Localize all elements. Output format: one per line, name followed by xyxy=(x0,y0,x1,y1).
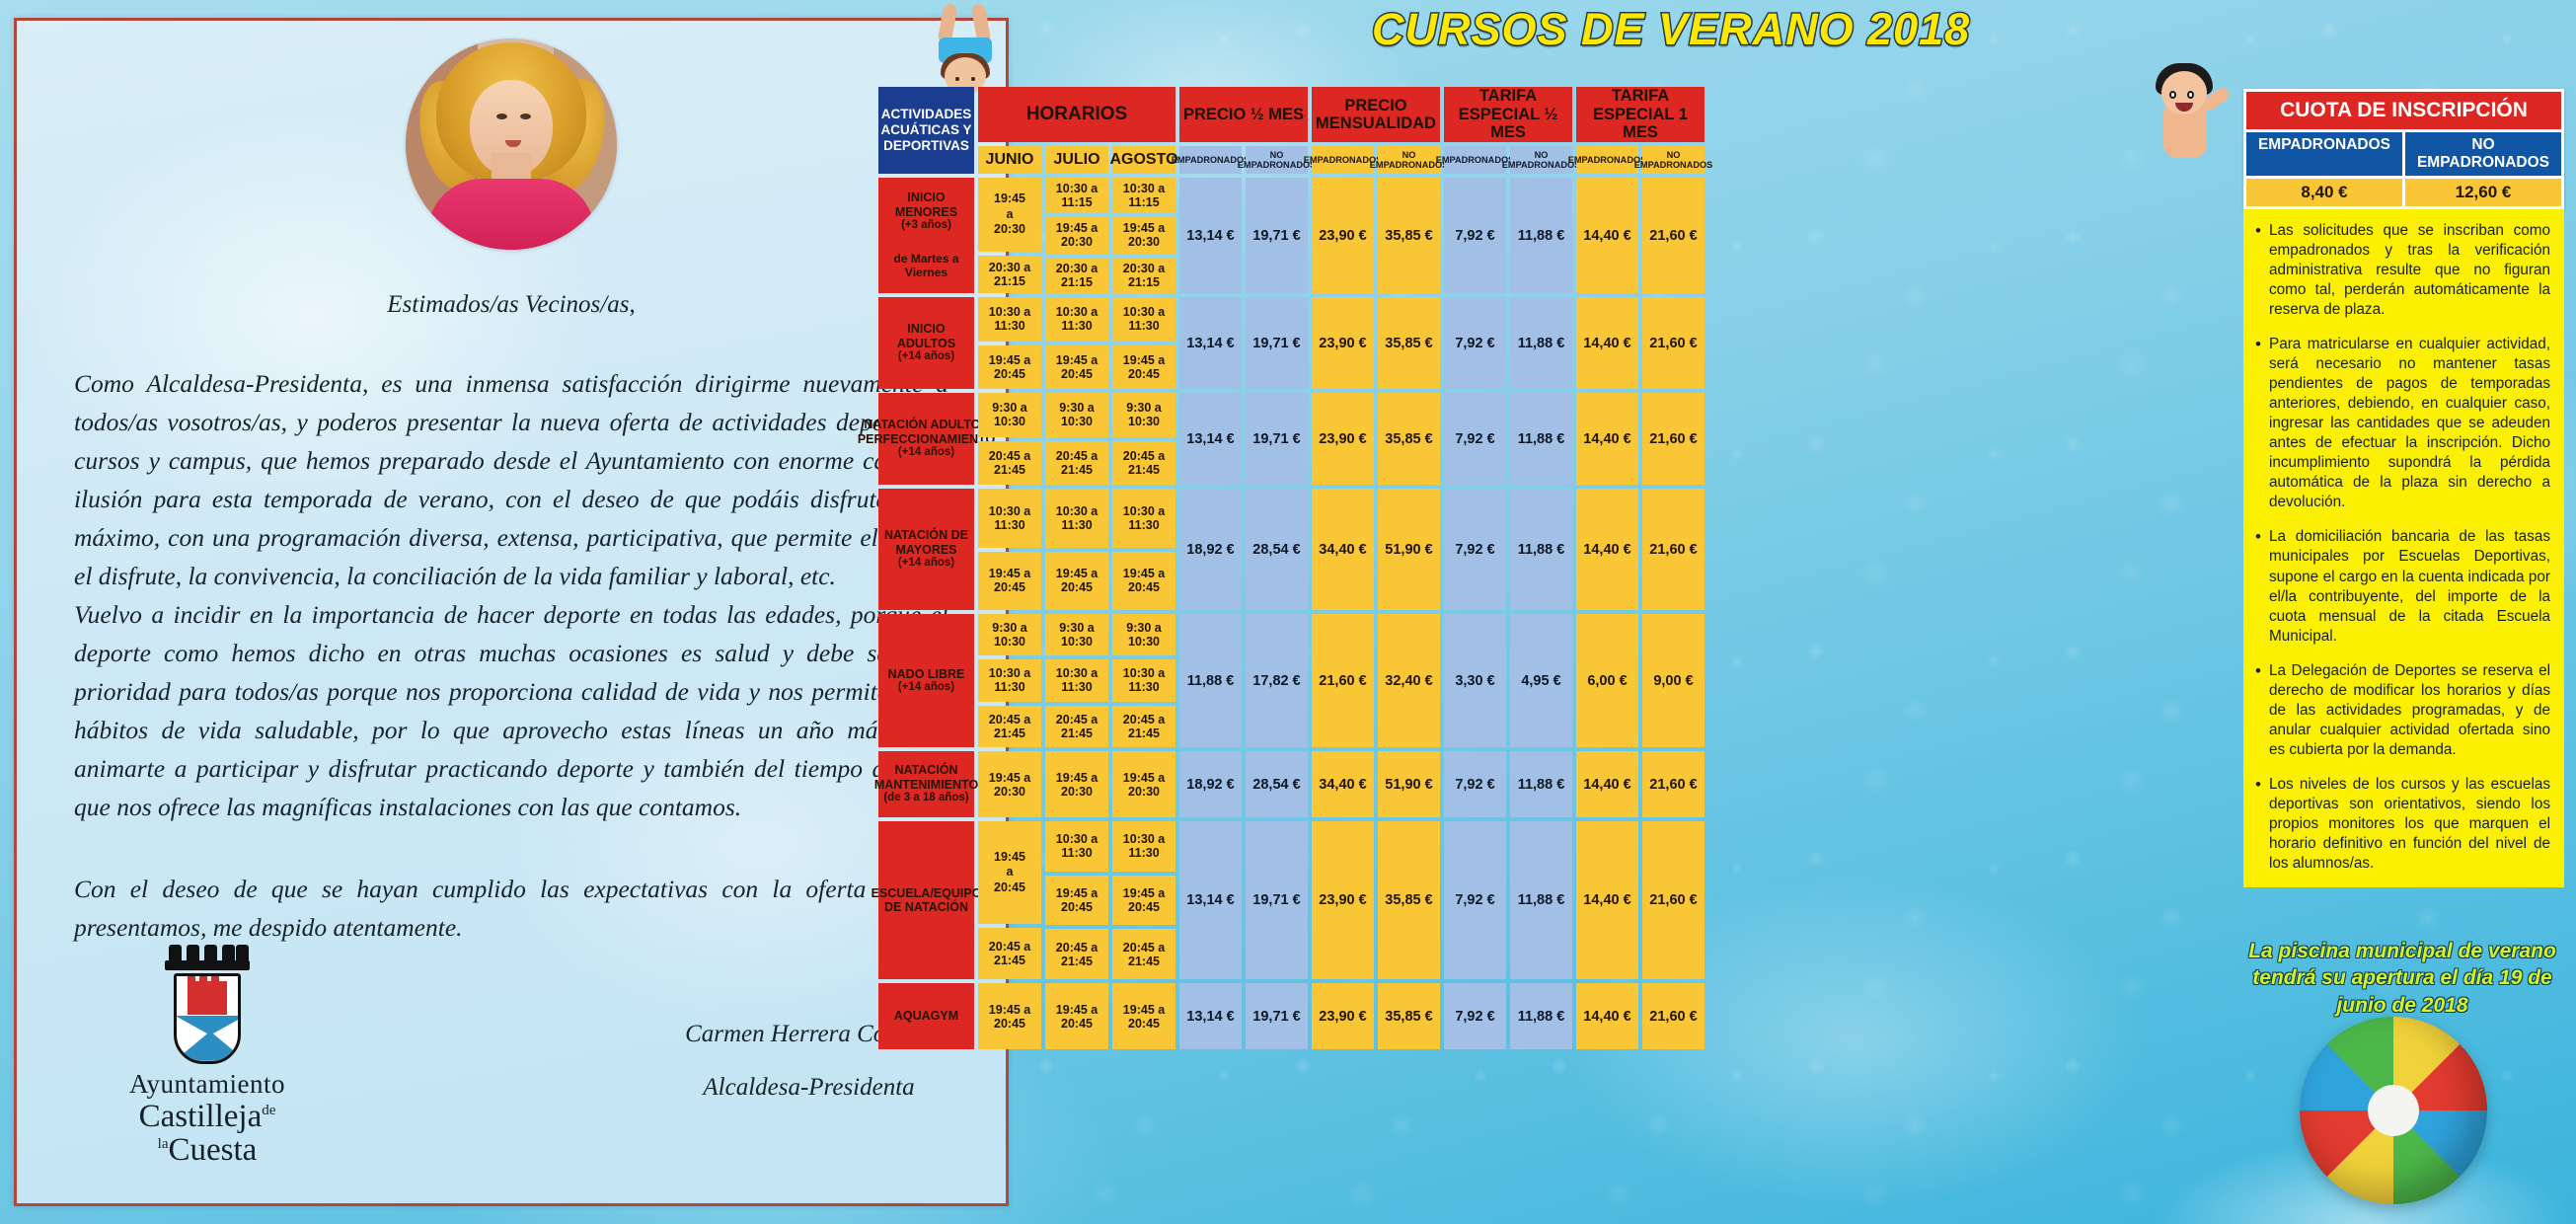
activity-name: NATACIÓN DE MAYORES xyxy=(881,528,971,557)
price-cell: 14,40 € xyxy=(1576,489,1638,610)
schedule-column: 9:30 a 10:3010:30 a 11:3020:45 a 21:45 xyxy=(1112,614,1175,747)
price-cell: 11,88 € xyxy=(1510,489,1572,610)
table-row: INICIO ADULTOS(+14 años)10:30 a 11:3019:… xyxy=(878,297,2114,389)
activity-age: (de 3 a 18 años) xyxy=(883,792,968,804)
schedule-time: 19:45 a 20:30 xyxy=(978,178,1041,252)
logo-line-2: Castillejade laCuesta xyxy=(94,1100,321,1168)
price-cell: 11,88 € xyxy=(1510,983,1572,1049)
cuota-value-no-empadronados: 12,60 € xyxy=(2405,179,2561,206)
schedule-time: 20:30 a 21:15 xyxy=(1045,258,1108,293)
beach-ball-icon xyxy=(2300,1017,2487,1204)
registration-fee-box: CUOTA DE INSCRIPCIÓN EMPADRONADOS NO EMP… xyxy=(2243,89,2564,209)
price-cell: 13,14 € xyxy=(1179,393,1242,485)
conditions-notes-box: Las solicitudes que se inscriban como em… xyxy=(2243,209,2564,887)
price-cell: 35,85 € xyxy=(1378,821,1440,979)
activity-name-cell: INICIO ADULTOS(+14 años) xyxy=(878,297,974,389)
header-empadronado-type: EMPADRONADOS xyxy=(1576,146,1638,174)
price-cell: 18,92 € xyxy=(1179,751,1242,817)
schedule-time: 9:30 a 10:30 xyxy=(1045,614,1108,655)
schedule-time: 10:30 a 11:30 xyxy=(978,489,1041,548)
header-month: AGOSTO xyxy=(1112,146,1175,174)
header-empadronado-type: EMPADRONADOS xyxy=(1312,146,1374,174)
schedule-time: 19:45 a 20:45 xyxy=(1112,983,1175,1049)
schedule-column: 9:30 a 10:3010:30 a 11:3020:45 a 21:45 xyxy=(1045,614,1108,747)
schedule-column: 10:30 a 11:1519:45 a 20:3020:30 a 21:15 xyxy=(1112,178,1175,293)
price-cell: 23,90 € xyxy=(1312,178,1374,293)
price-cell: 11,88 € xyxy=(1510,393,1572,485)
price-cell: 7,92 € xyxy=(1444,821,1506,979)
cuota-head-empadronados: EMPADRONADOS xyxy=(2246,132,2402,176)
activity-name: INICIO MENORES xyxy=(881,191,971,219)
schedule-column: 10:30 a 11:3019:45 a 20:45 xyxy=(1045,297,1108,389)
note-item: La Delegación de Deportes se reserva el … xyxy=(2255,661,2550,760)
activity-age: (+3 años) xyxy=(901,219,951,232)
schedule-time: 19:45 a 20:30 xyxy=(1112,751,1175,817)
schedule-time: 20:45 a 21:45 xyxy=(978,441,1041,486)
schedule-time: 19:45 a 20:45 xyxy=(978,821,1041,924)
schedule-column: 19:45 a 20:45 xyxy=(1112,983,1175,1049)
price-cell: 23,90 € xyxy=(1312,297,1374,389)
activity-name-cell: AQUAGYM xyxy=(878,983,974,1049)
schedule-time: 10:30 a 11:30 xyxy=(978,297,1041,342)
schedule-time: 19:45 a 20:45 xyxy=(1045,876,1108,926)
header-price-group: TARIFA ESPECIAL 1 MES xyxy=(1576,87,1705,142)
schedule-time: 10:30 a 11:30 xyxy=(1112,821,1175,872)
schedule-column: 19:45 a 20:30 xyxy=(1112,751,1175,817)
letter-paragraph-3: Con el deseo de que se hayan cumplido la… xyxy=(74,870,948,947)
price-cell: 11,88 € xyxy=(1510,751,1572,817)
schedule-time: 9:30 a 10:30 xyxy=(1045,393,1108,437)
schedule-column: 9:30 a 10:3020:45 a 21:45 xyxy=(1112,393,1175,485)
header-empadronado-type: EMPADRONADOS xyxy=(1179,146,1242,174)
header-empadronado-type: NO EMPADRONADOS xyxy=(1510,146,1572,174)
price-cell: 14,40 € xyxy=(1576,393,1638,485)
table-row: NATACIÓN MANTENIMIENTO(de 3 a 18 años)19… xyxy=(878,751,2114,817)
schedule-time: 9:30 a 10:30 xyxy=(978,393,1041,437)
price-cell: 21,60 € xyxy=(1642,751,1705,817)
activity-name-cell: ESCUELA/EQUIPO DE NATACIÓN xyxy=(878,821,974,979)
schedule-time: 9:30 a 10:30 xyxy=(1112,393,1175,437)
price-cell: 11,88 € xyxy=(1510,297,1572,389)
table-row: AQUAGYM19:45 a 20:4519:45 a 20:4519:45 a… xyxy=(878,983,2114,1049)
schedule-column: 10:30 a 11:3019:45 a 20:4520:45 a 21:45 xyxy=(1112,821,1175,979)
activity-name: INICIO ADULTOS xyxy=(881,322,971,350)
schedule-time: 10:30 a 11:15 xyxy=(1045,178,1108,213)
schedule-column: 10:30 a 11:1519:45 a 20:3020:30 a 21:15 xyxy=(1045,178,1108,293)
price-cell: 13,14 € xyxy=(1179,178,1242,293)
price-cell: 14,40 € xyxy=(1576,297,1638,389)
activity-name: AQUAGYM xyxy=(894,1009,958,1024)
activity-name: NATACIÓN ADULTOS PERFECCIONAMIENTO xyxy=(858,418,995,446)
schedule-time: 20:45 a 21:45 xyxy=(1112,441,1175,486)
schedule-column: 10:30 a 11:3019:45 a 20:45 xyxy=(1045,489,1108,610)
schedule-time: 19:45 a 20:30 xyxy=(1045,217,1108,253)
schedule-time: 20:45 a 21:45 xyxy=(978,706,1041,747)
price-cell: 14,40 € xyxy=(1576,751,1638,817)
schedule-time: 9:30 a 10:30 xyxy=(978,614,1041,655)
header-month: JUNIO xyxy=(978,146,1041,174)
activity-name: NATACIÓN MANTENIMIENTO xyxy=(874,763,978,792)
schedule-time: 20:45 a 21:45 xyxy=(1112,706,1175,747)
price-cell: 21,60 € xyxy=(1642,983,1705,1049)
price-cell: 34,40 € xyxy=(1312,751,1374,817)
price-cell: 17,82 € xyxy=(1246,614,1308,747)
schedule-time: 19:45 a 20:30 xyxy=(1045,751,1108,817)
header-activities: ACTIVIDADES ACUÁTICAS Y DEPORTIVAS xyxy=(878,87,974,174)
header-price-group: TARIFA ESPECIAL ½ MES xyxy=(1444,87,1572,142)
schedule-time: 19:45 a 20:45 xyxy=(1045,552,1108,611)
table-subheader-row: JUNIOJULIOAGOSTOEMPADRONADOSNO EMPADRONA… xyxy=(978,146,2114,174)
schedule-time: 10:30 a 11:30 xyxy=(978,659,1041,701)
price-cell: 7,92 € xyxy=(1444,297,1506,389)
schedule-time: 20:30 a 21:15 xyxy=(978,256,1041,293)
price-cell: 21,60 € xyxy=(1642,393,1705,485)
letter-paragraph-1: Como Alcaldesa-Presidenta, es una inmens… xyxy=(74,364,948,595)
schedule-column: 9:30 a 10:3020:45 a 21:45 xyxy=(978,393,1041,485)
schedule-column: 10:30 a 11:3019:45 a 20:45 xyxy=(1112,489,1175,610)
schedule-column: 19:45 a 20:30 xyxy=(978,751,1041,817)
cuota-head-no-empadronados: NO EMPADRONADOS xyxy=(2405,132,2561,176)
schedule-time: 19:45 a 20:45 xyxy=(978,552,1041,611)
schedule-time: 10:30 a 11:30 xyxy=(1112,489,1175,548)
header-empadronado-type: EMPADRONADOS xyxy=(1444,146,1506,174)
price-cell: 28,54 € xyxy=(1246,751,1308,817)
letter-paragraph-2: Vuelvo a incidir en la importancia de ha… xyxy=(74,595,948,826)
page-title: CURSOS DE VERANO 2018 xyxy=(1372,4,1970,55)
header-horarios: HORARIOS xyxy=(978,87,1175,142)
schedule-time: 10:30 a 11:30 xyxy=(1112,297,1175,342)
logo-line-1: Ayuntamiento xyxy=(94,1069,321,1100)
price-cell: 51,90 € xyxy=(1378,489,1440,610)
table-row: NATACIÓN ADULTOS PERFECCIONAMIENTO(+14 a… xyxy=(878,393,2114,485)
activity-age: (+14 años) xyxy=(898,446,954,459)
price-cell: 35,85 € xyxy=(1378,983,1440,1049)
activity-note: de Martes a Viernes xyxy=(881,253,971,280)
schedule-time: 19:45 a 20:45 xyxy=(978,983,1041,1049)
price-cell: 23,90 € xyxy=(1312,393,1374,485)
activity-name: ESCUELA/EQUIPO DE NATACIÓN xyxy=(871,886,982,915)
table-row: NATACIÓN DE MAYORES(+14 años)10:30 a 11:… xyxy=(878,489,2114,610)
activity-name: NADO LIBRE xyxy=(888,667,965,682)
schedule-time: 10:30 a 11:30 xyxy=(1045,821,1108,872)
note-item: Para matricularse en cualquier actividad… xyxy=(2255,335,2550,512)
schedule-column: 10:30 a 11:3019:45 a 20:45 xyxy=(978,489,1041,610)
price-cell: 9,00 € xyxy=(1642,614,1705,747)
pool-opening-notice: La piscina municipal de verano tendrá su… xyxy=(2229,938,2576,1019)
activity-age: (+14 años) xyxy=(898,681,954,694)
schedule-time: 10:30 a 11:15 xyxy=(1112,178,1175,213)
notes-list: Las solicitudes que se inscriban como em… xyxy=(2255,221,2550,874)
price-cell: 11,88 € xyxy=(1510,178,1572,293)
activity-age: (+14 años) xyxy=(898,557,954,570)
schedule-column: 19:45 a 20:3020:30 a 21:15 xyxy=(978,178,1041,293)
price-cell: 3,30 € xyxy=(1444,614,1506,747)
price-cell: 19,71 € xyxy=(1246,983,1308,1049)
schedule-column: 19:45 a 20:30 xyxy=(1045,751,1108,817)
cuota-title: CUOTA DE INSCRIPCIÓN xyxy=(2246,92,2561,129)
price-cell: 13,14 € xyxy=(1179,983,1242,1049)
logo-cuesta: Cuesta xyxy=(169,1132,258,1168)
schedule-time: 20:45 a 21:45 xyxy=(1112,929,1175,979)
price-cell: 34,40 € xyxy=(1312,489,1374,610)
table-row: NADO LIBRE(+14 años)9:30 a 10:3010:30 a … xyxy=(878,614,2114,747)
schedule-time: 19:45 a 20:45 xyxy=(1112,876,1175,926)
price-cell: 19,71 € xyxy=(1246,393,1308,485)
header-empadronado-type: NO EMPADRONADOS xyxy=(1642,146,1705,174)
price-cell: 28,54 € xyxy=(1246,489,1308,610)
schedule-column: 9:30 a 10:3010:30 a 11:3020:45 a 21:45 xyxy=(978,614,1041,747)
schedule-column: 19:45 a 20:45 xyxy=(978,983,1041,1049)
schedule-time: 20:45 a 21:45 xyxy=(978,928,1041,979)
price-cell: 7,92 € xyxy=(1444,983,1506,1049)
schedule-time: 19:45 a 20:45 xyxy=(1045,345,1108,390)
price-cell: 13,14 € xyxy=(1179,297,1242,389)
price-cell: 7,92 € xyxy=(1444,751,1506,817)
header-month: JULIO xyxy=(1045,146,1108,174)
schedule-time: 19:45 a 20:45 xyxy=(1112,552,1175,611)
schedule-time: 10:30 a 11:30 xyxy=(1045,297,1108,342)
schedule-time: 20:30 a 21:15 xyxy=(1112,258,1175,293)
price-cell: 14,40 € xyxy=(1576,178,1638,293)
schedule-time: 20:45 a 21:45 xyxy=(1045,929,1108,979)
price-cell: 23,90 € xyxy=(1312,983,1374,1049)
note-item: Las solicitudes que se inscriban como em… xyxy=(2255,221,2550,320)
price-cell: 21,60 € xyxy=(1312,614,1374,747)
schedule-time: 10:30 a 11:30 xyxy=(1045,489,1108,548)
price-cell: 21,60 € xyxy=(1642,489,1705,610)
handstand-kid-icon xyxy=(923,4,1008,93)
price-cell: 21,60 € xyxy=(1642,821,1705,979)
price-cell: 35,85 € xyxy=(1378,178,1440,293)
price-cell: 21,60 € xyxy=(1642,297,1705,389)
schedule-time: 19:45 a 20:45 xyxy=(978,345,1041,390)
activity-name-cell: INICIO MENORES(+3 años)de Martes a Viern… xyxy=(878,178,974,293)
schedule-column: 19:45 a 20:45 xyxy=(1045,983,1108,1049)
cuota-value-empadronados: 8,40 € xyxy=(2246,179,2402,206)
price-cell: 19,71 € xyxy=(1246,178,1308,293)
activity-age: (+14 años) xyxy=(898,350,954,363)
schedule-time: 9:30 a 10:30 xyxy=(1112,614,1175,655)
schedule-time: 19:45 a 20:45 xyxy=(1112,345,1175,390)
logo-town: Castilleja xyxy=(139,1099,263,1134)
table-row: ESCUELA/EQUIPO DE NATACIÓN19:45 a 20:452… xyxy=(878,821,2114,979)
mayor-portrait-photo xyxy=(406,38,617,250)
header-price-group: PRECIO ½ MES xyxy=(1179,87,1308,142)
price-cell: 11,88 € xyxy=(1179,614,1242,747)
activity-name-cell: NATACIÓN MANTENIMIENTO(de 3 a 18 años) xyxy=(878,751,974,817)
price-cell: 18,92 € xyxy=(1179,489,1242,610)
schedule-time: 19:45 a 20:45 xyxy=(1045,983,1108,1049)
table-row: INICIO MENORES(+3 años)de Martes a Viern… xyxy=(878,178,2114,293)
price-cell: 14,40 € xyxy=(1576,821,1638,979)
schedule-time: 20:45 a 21:45 xyxy=(1045,706,1108,747)
activity-name-cell: NATACIÓN ADULTOS PERFECCIONAMIENTO(+14 a… xyxy=(878,393,974,485)
schedule-column: 10:30 a 11:3019:45 a 20:45 xyxy=(1112,297,1175,389)
price-cell: 23,90 € xyxy=(1312,821,1374,979)
coat-of-arms-icon xyxy=(174,973,241,1064)
price-cell: 7,92 € xyxy=(1444,393,1506,485)
price-cell: 7,92 € xyxy=(1444,178,1506,293)
schedule-time: 10:30 a 11:30 xyxy=(1045,659,1108,701)
price-cell: 4,95 € xyxy=(1510,614,1572,747)
price-cell: 32,40 € xyxy=(1378,614,1440,747)
schedule-column: 10:30 a 11:3019:45 a 20:4520:45 a 21:45 xyxy=(1045,821,1108,979)
ayuntamiento-logo: Ayuntamiento Castillejade laCuesta xyxy=(94,945,321,1168)
courses-table: ACTIVIDADES ACUÁTICAS Y DEPORTIVASHORARI… xyxy=(878,87,2114,1053)
schedule-column: 10:30 a 11:3019:45 a 20:45 xyxy=(978,297,1041,389)
waving-kid-icon xyxy=(2142,57,2236,161)
price-cell: 6,00 € xyxy=(1576,614,1638,747)
note-item: Los niveles de los cursos y las escuelas… xyxy=(2255,775,2550,874)
header-empadronado-type: NO EMPADRONADOS xyxy=(1378,146,1440,174)
crown-icon xyxy=(165,945,250,970)
price-cell: 14,40 € xyxy=(1576,983,1638,1049)
price-cell: 19,71 € xyxy=(1246,821,1308,979)
mayor-letter-panel: Estimados/as Vecinos/as, Como Alcaldesa-… xyxy=(14,18,1009,1206)
price-cell: 7,92 € xyxy=(1444,489,1506,610)
header-empadronado-type: NO EMPADRONADOS xyxy=(1246,146,1308,174)
schedule-time: 10:30 a 11:30 xyxy=(1112,659,1175,701)
activity-name-cell: NATACIÓN DE MAYORES(+14 años) xyxy=(878,489,974,610)
letter-greeting: Estimados/as Vecinos/as, xyxy=(74,285,948,324)
price-cell: 35,85 € xyxy=(1378,393,1440,485)
signature-role: Alcaldesa-Presidenta xyxy=(685,1061,933,1114)
price-cell: 19,71 € xyxy=(1246,297,1308,389)
schedule-time: 19:45 a 20:30 xyxy=(1112,217,1175,253)
schedule-column: 19:45 a 20:4520:45 a 21:45 xyxy=(978,821,1041,979)
schedule-time: 19:45 a 20:30 xyxy=(978,751,1041,817)
schedule-column: 9:30 a 10:3020:45 a 21:45 xyxy=(1045,393,1108,485)
activity-name-cell: NADO LIBRE(+14 años) xyxy=(878,614,974,747)
price-cell: 21,60 € xyxy=(1642,178,1705,293)
header-price-group: PRECIO MENSUALIDAD xyxy=(1312,87,1440,142)
price-cell: 11,88 € xyxy=(1510,821,1572,979)
price-cell: 51,90 € xyxy=(1378,751,1440,817)
schedule-time: 20:45 a 21:45 xyxy=(1045,441,1108,486)
price-cell: 13,14 € xyxy=(1179,821,1242,979)
price-cell: 35,85 € xyxy=(1378,297,1440,389)
note-item: La domiciliación bancaria de las tasas m… xyxy=(2255,527,2550,646)
